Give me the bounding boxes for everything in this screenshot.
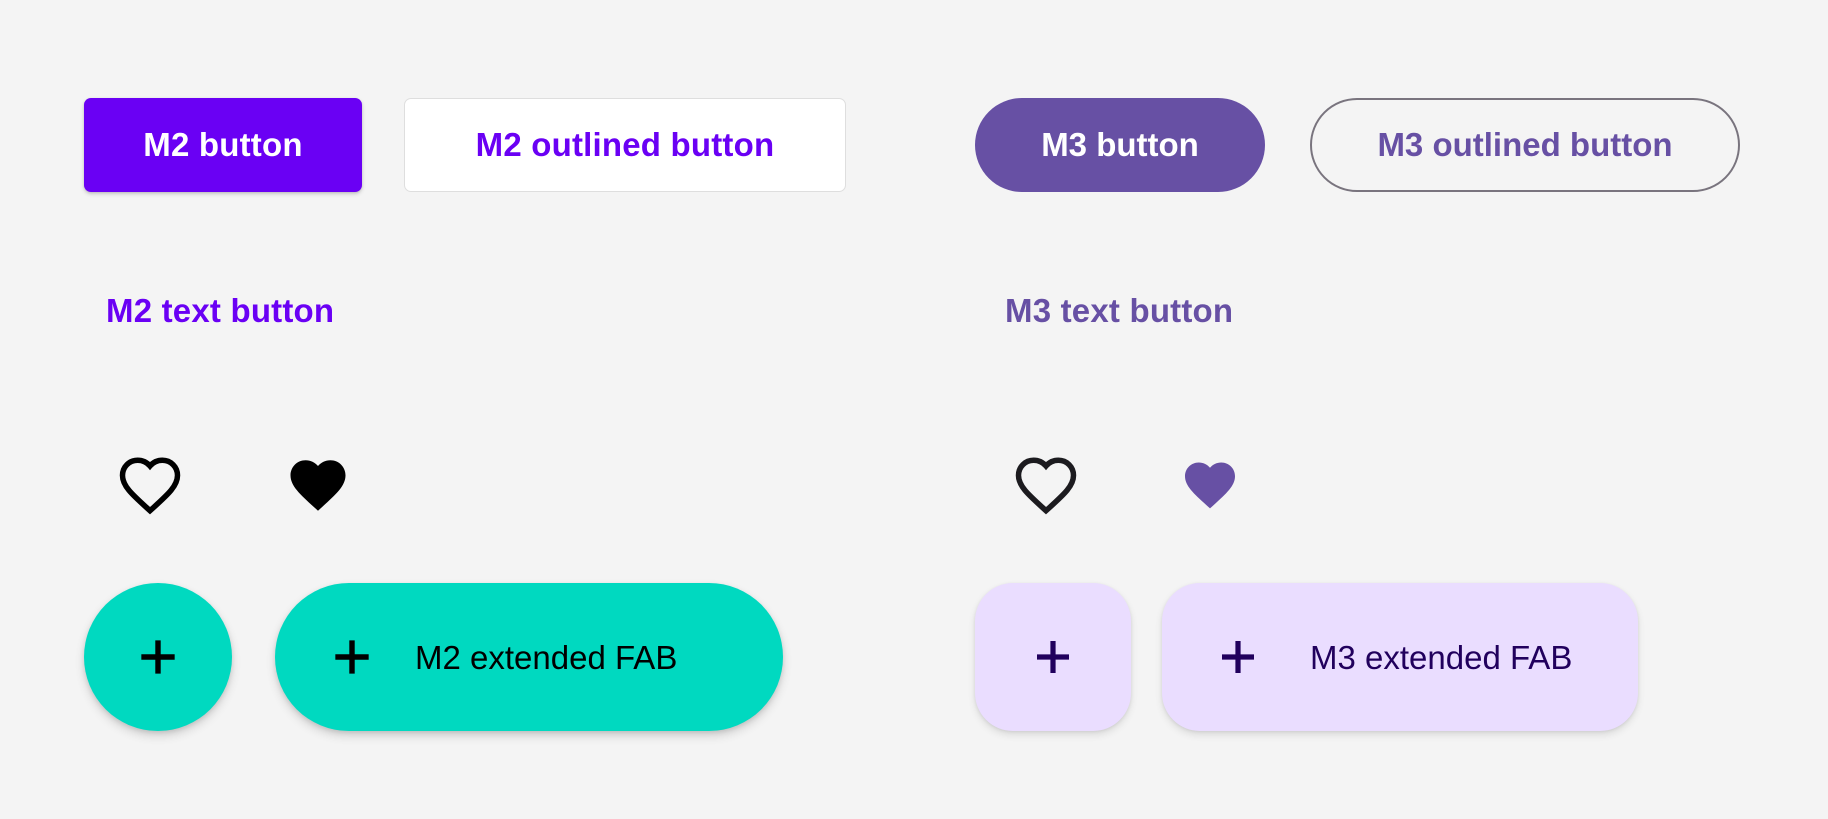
m2-heart-outline-icon-button[interactable] [117, 452, 183, 518]
m2-outlined-button[interactable]: M2 outlined button [404, 98, 846, 192]
m2-heart-filled-icon-button[interactable] [285, 452, 351, 518]
m3-extended-fab[interactable]: M3 extended FAB [1162, 583, 1638, 731]
plus-icon [1029, 633, 1077, 681]
m2-fab[interactable] [84, 583, 232, 731]
m2-outlined-button-label: M2 outlined button [476, 126, 775, 164]
m3-outlined-button[interactable]: M3 outlined button [1310, 98, 1740, 192]
heart-filled-icon [285, 452, 351, 518]
plus-icon [1214, 633, 1262, 681]
m2-filled-button[interactable]: M2 button [84, 98, 362, 192]
m2-text-button-label: M2 text button [106, 292, 334, 330]
m3-heart-outline-icon-button[interactable] [1013, 452, 1079, 518]
m3-text-button-label: M3 text button [1005, 292, 1233, 330]
m2-text-button[interactable]: M2 text button [106, 292, 334, 330]
m3-heart-filled-icon-button[interactable] [1177, 452, 1243, 518]
m2-extended-fab-label: M2 extended FAB [415, 641, 677, 674]
m3-extended-fab-label: M3 extended FAB [1310, 641, 1572, 674]
m3-filled-button-label: M3 button [1041, 126, 1199, 164]
plus-icon [133, 632, 183, 682]
m2-extended-fab[interactable]: M2 extended FAB [275, 583, 783, 731]
m3-text-button[interactable]: M3 text button [1005, 292, 1233, 330]
m2-filled-button-label: M2 button [143, 126, 302, 164]
heart-outline-icon [117, 452, 183, 518]
m3-fab[interactable] [975, 583, 1131, 731]
heart-outline-icon [1013, 452, 1079, 518]
plus-icon [327, 632, 377, 682]
m3-filled-button[interactable]: M3 button [975, 98, 1265, 192]
heart-filled-icon [1180, 455, 1240, 515]
comparison-canvas: M2 button M2 outlined button M3 button M… [0, 0, 1828, 819]
m3-outlined-button-label: M3 outlined button [1377, 126, 1672, 164]
